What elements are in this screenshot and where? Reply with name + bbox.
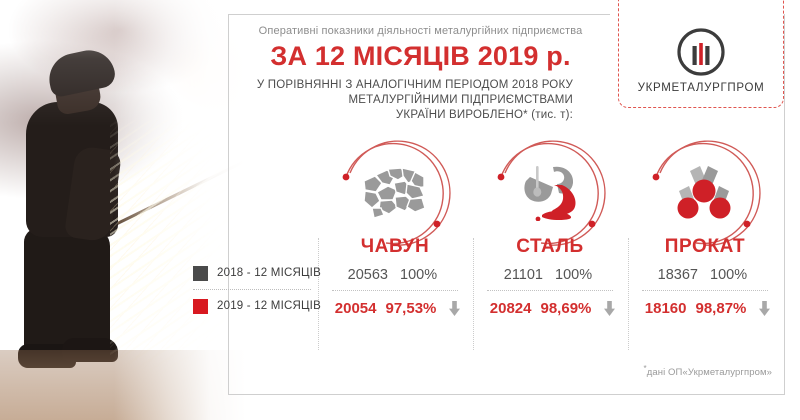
row-separator [332, 290, 458, 291]
legend-separator [193, 289, 311, 290]
circle-rings-prokat [644, 133, 764, 253]
percent-2019: 98,87% [696, 300, 750, 317]
column-divider-1 [318, 238, 319, 350]
gray-square-swatch [193, 266, 208, 281]
arrow-down-icon [449, 301, 460, 316]
row-2019: 18160 98,87% [630, 300, 780, 317]
subtitle-block: У ПОРІВНЯННІ З АНАЛОГІЧНИМ ПЕРІОДОМ 2018… [228, 78, 613, 123]
legend-label-2019: 2019 - 12 МІСЯЦІВ [217, 300, 321, 312]
percent-2019: 98,69% [541, 300, 595, 317]
value-2019: 18160 [641, 300, 687, 317]
infographic-root: Оперативні показники діяльності металург… [0, 0, 800, 420]
steel-ladle-pouring-icon [517, 163, 581, 221]
column-divider-2 [473, 238, 474, 350]
circle-rings-chavun [334, 133, 454, 253]
legend: 2018 - 12 МІСЯЦІВ 2019 - 12 МІСЯЦІВ [193, 262, 315, 317]
ukrmetallurgprom-ring-icon [676, 27, 726, 77]
data-column-stal: СТАЛЬ 21101 100% 20824 98,69% [475, 236, 625, 317]
eyebrow-text: Оперативні показники діяльності металург… [228, 25, 613, 37]
row-2018: 21101 100% [475, 267, 625, 283]
percent-2018: 100% [400, 267, 448, 283]
data-column-chavun: ЧАВУН 20563 100% 20054 97,53% [320, 236, 470, 317]
column-divider-3 [628, 238, 629, 350]
subtitle-line-1: У ПОРІВНЯННІ З АНАЛОГІЧНИМ ПЕРІОДОМ 2018… [228, 78, 573, 93]
row-2018: 18367 100% [630, 267, 780, 283]
subtitle-line-3: УКРАЇНИ ВИРОБЛЕНО* (тис. т): [228, 108, 573, 123]
rolled-metal-pipes-icon [672, 163, 736, 221]
row-separator [642, 290, 768, 291]
circle-rings-stal [489, 133, 609, 253]
legend-item-2019: 2019 - 12 МІСЯЦІВ [193, 295, 315, 317]
circle-stal [489, 133, 609, 253]
row-2019: 20824 98,69% [475, 300, 625, 317]
legend-label-2018: 2018 - 12 МІСЯЦІВ [217, 267, 321, 279]
data-column-prokat: ПРОКАТ 18367 100% 18160 98,87% [630, 236, 780, 317]
row-separator [487, 290, 613, 291]
value-2019: 20824 [486, 300, 532, 317]
footnote-text: дані ОП«Укрметалургпром» [647, 367, 772, 378]
value-2018: 18367 [652, 267, 698, 283]
circle-chavun [334, 133, 454, 253]
percent-2018: 100% [555, 267, 603, 283]
logo-name: УКРМЕТАЛУРГПРОМ [638, 82, 765, 94]
value-2018: 21101 [497, 267, 543, 283]
footnote: *дані ОП«Укрметалургпром» [644, 364, 772, 378]
row-2018: 20563 100% [320, 267, 470, 283]
arrow-down-icon [604, 301, 615, 316]
iron-ore-rocks-icon [362, 163, 426, 221]
category-name: СТАЛЬ [475, 236, 625, 258]
percent-2018: 100% [710, 267, 758, 283]
legend-item-2018: 2018 - 12 МІСЯЦІВ [193, 262, 315, 284]
arrow-down-icon [759, 301, 770, 316]
red-square-swatch [193, 299, 208, 314]
circle-prokat [644, 133, 764, 253]
subtitle-line-2: МЕТАЛУРГІЙНИМИ ПІДПРИЄМСТВАМИ [228, 93, 573, 108]
category-name: ПРОКАТ [630, 236, 780, 258]
category-name: ЧАВУН [320, 236, 470, 258]
percent-2019: 97,53% [386, 300, 440, 317]
value-2019: 20054 [331, 300, 377, 317]
logo-box[interactable]: УКРМЕТАЛУРГПРОМ [618, 0, 784, 108]
row-2019: 20054 97,53% [320, 300, 470, 317]
page-title: ЗА 12 МІСЯЦІВ 2019 р. [228, 41, 613, 72]
value-2018: 20563 [342, 267, 388, 283]
